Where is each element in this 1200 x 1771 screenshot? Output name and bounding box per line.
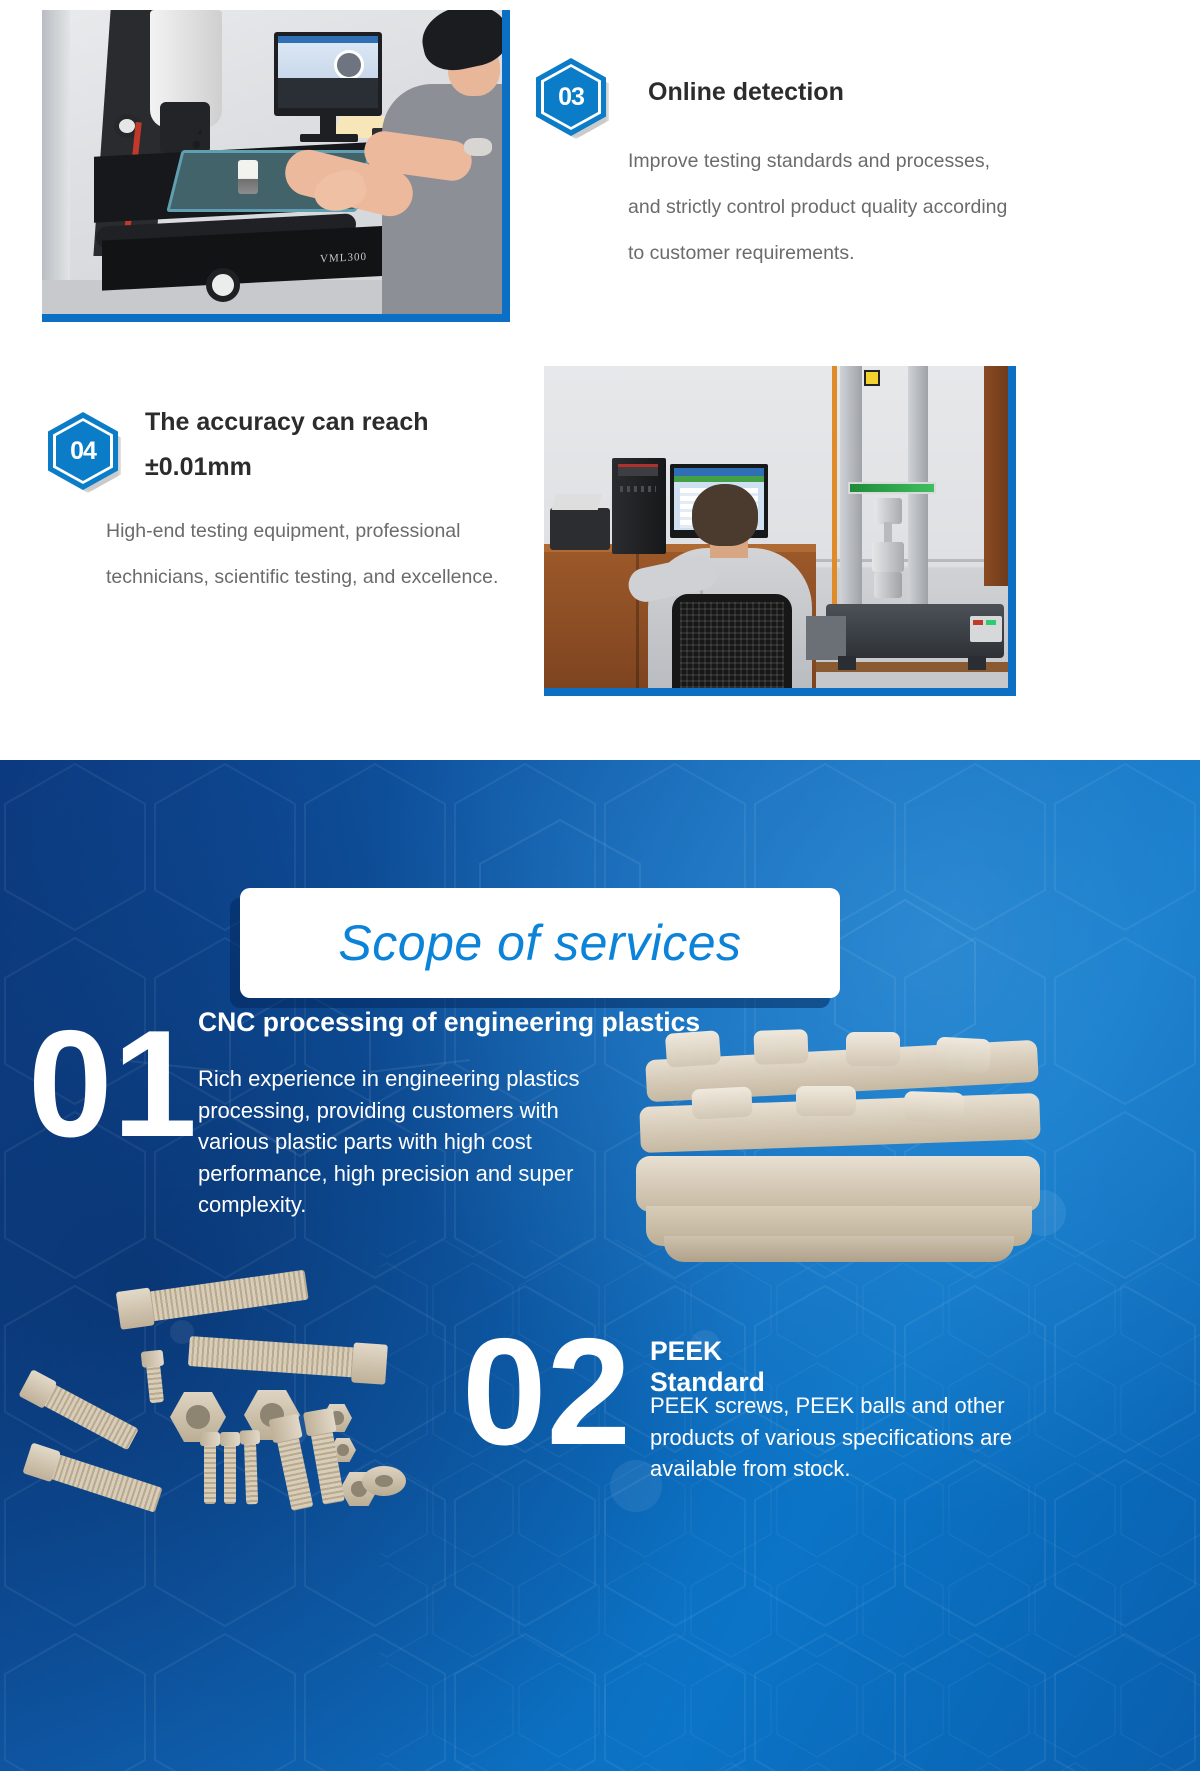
service-01-title: CNC processing of engineering plastics (198, 1007, 700, 1038)
peek-fasteners-photo (40, 1278, 480, 1558)
service-02-body: PEEK screws, PEEK balls and other produc… (650, 1390, 1030, 1485)
service-01-body: Rich experience in engineering plastics … (198, 1063, 618, 1221)
service-02-number: 02 (462, 1330, 631, 1455)
service-01-number: 01 (28, 1022, 197, 1147)
peek-chain-parts-photo (636, 1030, 1048, 1280)
service-item-01: 01 CNC processing of engineering plastic… (0, 0, 1200, 1011)
service-02-title: PEEK Standard (650, 1336, 765, 1398)
